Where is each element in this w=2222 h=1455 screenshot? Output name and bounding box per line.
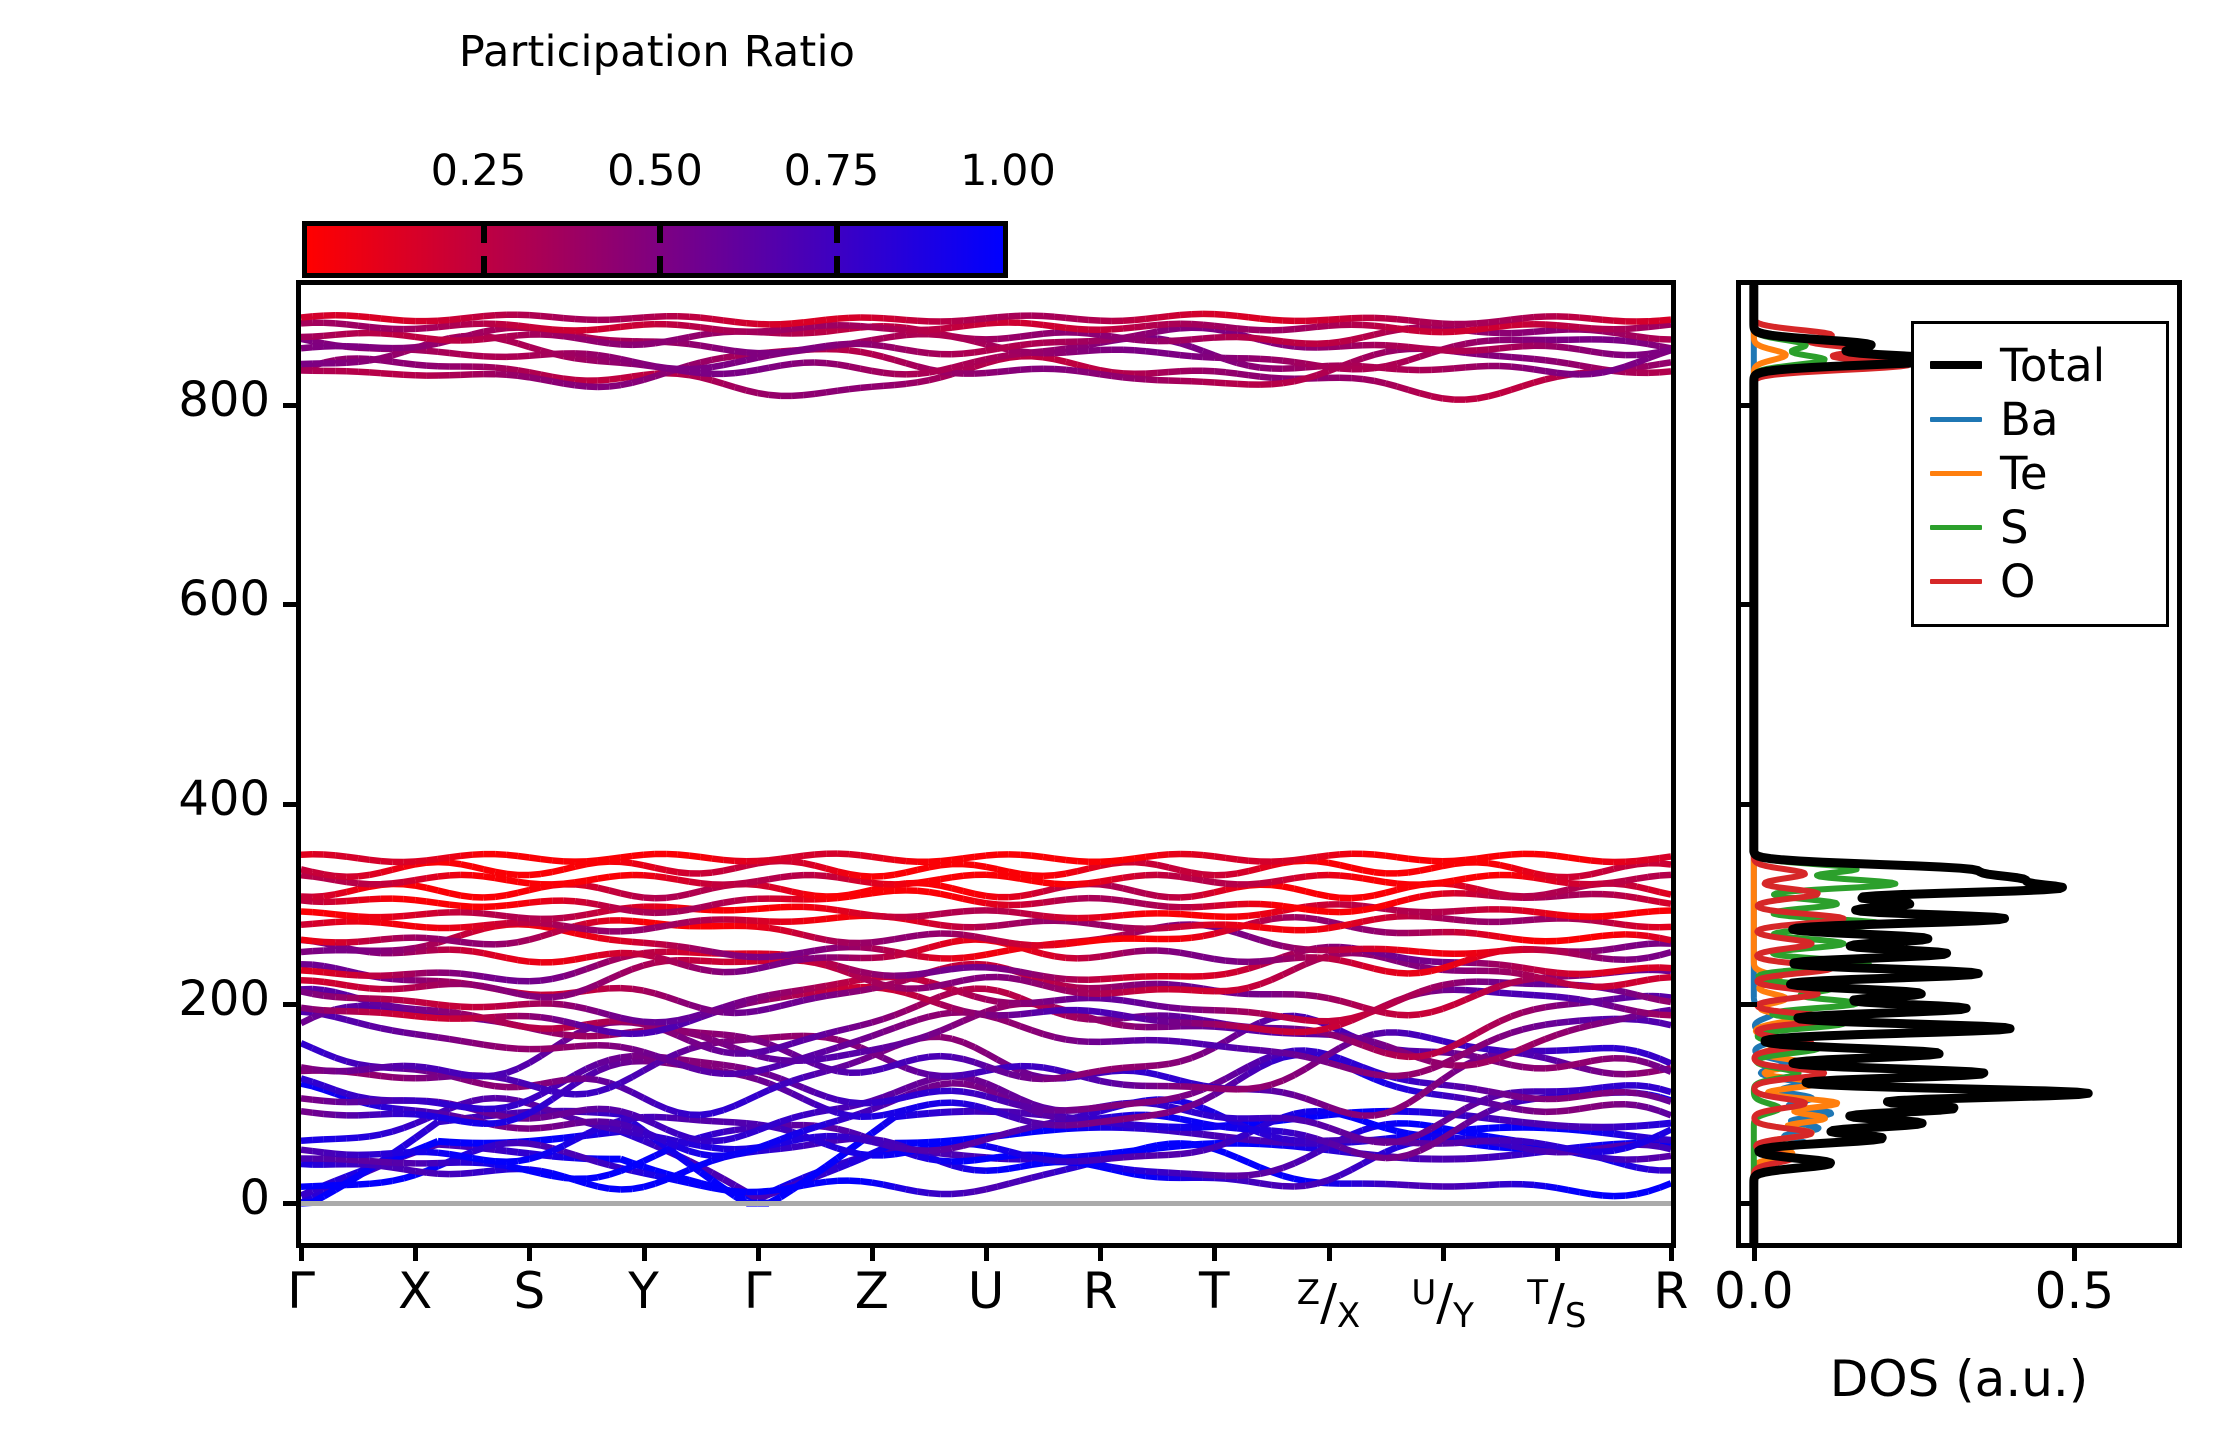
- legend-item[interactable]: Total: [1930, 338, 2150, 392]
- dos-x-tick: [1752, 1243, 1757, 1261]
- legend-colour-swatch: [1930, 471, 1982, 476]
- band-x-tick-labels: ΓXSYΓZURTZ/XU/YT/SR: [296, 1262, 1676, 1352]
- band-x-tick-label: R: [1654, 1262, 1689, 1320]
- band-x-tick: [870, 1243, 875, 1261]
- band-x-tick: [756, 1243, 761, 1261]
- colorbar-tick-label: 0.75: [784, 146, 880, 196]
- band-x-tick: [984, 1243, 989, 1261]
- projected-dos-plot[interactable]: TotalBaTeSO: [1736, 280, 2182, 1248]
- band-x-tick: [413, 1243, 418, 1261]
- band-x-tick-label: T: [1199, 1262, 1230, 1320]
- legend-item[interactable]: O: [1930, 554, 2150, 608]
- dos-y-tick: [1741, 403, 1757, 408]
- colorbar-tick-mark: [834, 226, 840, 243]
- band-y-tick: [283, 802, 301, 807]
- band-x-tick-label: Z/X: [1297, 1262, 1360, 1349]
- band-y-tick-label: 400: [0, 771, 270, 827]
- band-x-tick-label: Y: [628, 1262, 659, 1320]
- band-y-tick-label: 0: [0, 1170, 270, 1226]
- dos-legend: TotalBaTeSO: [1911, 321, 2169, 627]
- legend-label: Te: [2000, 451, 2048, 496]
- band-zero-frequency-line: [301, 1201, 1671, 1206]
- band-x-tick-label: Γ: [744, 1262, 772, 1320]
- colorbar-tick-mark: [657, 256, 663, 273]
- band-x-tick: [1327, 1243, 1332, 1261]
- band-x-tick: [1669, 1243, 1674, 1261]
- dos-x-tick-label: 0.0: [1714, 1262, 1794, 1320]
- colorbar-tick-mark: [481, 226, 487, 243]
- band-y-tick-label: 600: [0, 571, 270, 627]
- band-x-tick: [1555, 1243, 1560, 1261]
- band-x-tick-label: Z: [855, 1262, 889, 1320]
- colorbar-title: Participation Ratio: [302, 26, 1012, 78]
- band-x-tick-label: S: [513, 1262, 545, 1320]
- band-x-tick-label: U: [968, 1262, 1005, 1320]
- legend-colour-swatch: [1930, 361, 1982, 369]
- legend-label: O: [2000, 559, 2035, 604]
- band-y-tick-label: 200: [0, 971, 270, 1027]
- legend-colour-swatch: [1930, 579, 1982, 584]
- legend-item[interactable]: S: [1930, 500, 2150, 554]
- legend-item[interactable]: Te: [1930, 446, 2150, 500]
- band-x-tick: [1441, 1243, 1446, 1261]
- colorbar-tick-mark: [834, 256, 840, 273]
- dos-y-tick: [1741, 1002, 1757, 1007]
- dos-x-tick-label: 0.5: [2035, 1262, 2115, 1320]
- band-y-tick: [283, 1002, 301, 1007]
- colorbar-tick-mark: [657, 226, 663, 243]
- dos-y-tick: [1741, 602, 1757, 607]
- colorbar-tick-labels: 0.250.500.751.00: [302, 146, 1012, 194]
- band-dispersion-curves: [301, 285, 1671, 1243]
- band-x-tick: [642, 1243, 647, 1261]
- band-y-tick: [283, 1201, 301, 1206]
- dos-x-tick-labels: 0.00.5: [1736, 1262, 2182, 1322]
- band-x-tick-label: X: [398, 1262, 432, 1320]
- dos-x-axis-title: DOS (a.u.): [1736, 1350, 2182, 1408]
- legend-label: S: [2000, 505, 2029, 550]
- band-x-tick: [527, 1243, 532, 1261]
- band-x-tick: [1098, 1243, 1103, 1261]
- legend-colour-swatch: [1930, 525, 1982, 530]
- legend-label: Total: [2000, 343, 2105, 388]
- band-x-tick-label: Γ: [287, 1262, 315, 1320]
- band-x-tick: [299, 1243, 304, 1261]
- band-plot-area: [301, 285, 1671, 1243]
- band-x-tick-label: U/Y: [1411, 1262, 1474, 1349]
- participation-ratio-colorbar: Participation Ratio 0.250.500.751.00: [302, 26, 1012, 206]
- legend-colour-swatch: [1930, 417, 1982, 422]
- colorbar-tick-mark: [481, 256, 487, 273]
- colorbar-tick-label: 1.00: [960, 146, 1056, 196]
- dos-y-tick: [1741, 802, 1757, 807]
- band-y-tick-label: 800: [0, 372, 270, 428]
- colorbar-tick-label: 0.50: [607, 146, 703, 196]
- legend-item[interactable]: Ba: [1930, 392, 2150, 446]
- band-y-tick: [283, 602, 301, 607]
- band-x-tick-label: R: [1083, 1262, 1118, 1320]
- colorbar-tick-label: 0.25: [431, 146, 527, 196]
- band-x-tick: [1212, 1243, 1217, 1261]
- dos-y-tick: [1741, 1201, 1757, 1206]
- band-x-tick-label: T/S: [1527, 1262, 1586, 1349]
- legend-label: Ba: [2000, 397, 2058, 442]
- colorbar-gradient: [302, 221, 1008, 278]
- dos-x-tick: [2072, 1243, 2077, 1261]
- phonon-band-structure-plot[interactable]: [296, 280, 1676, 1248]
- band-y-tick: [283, 403, 301, 408]
